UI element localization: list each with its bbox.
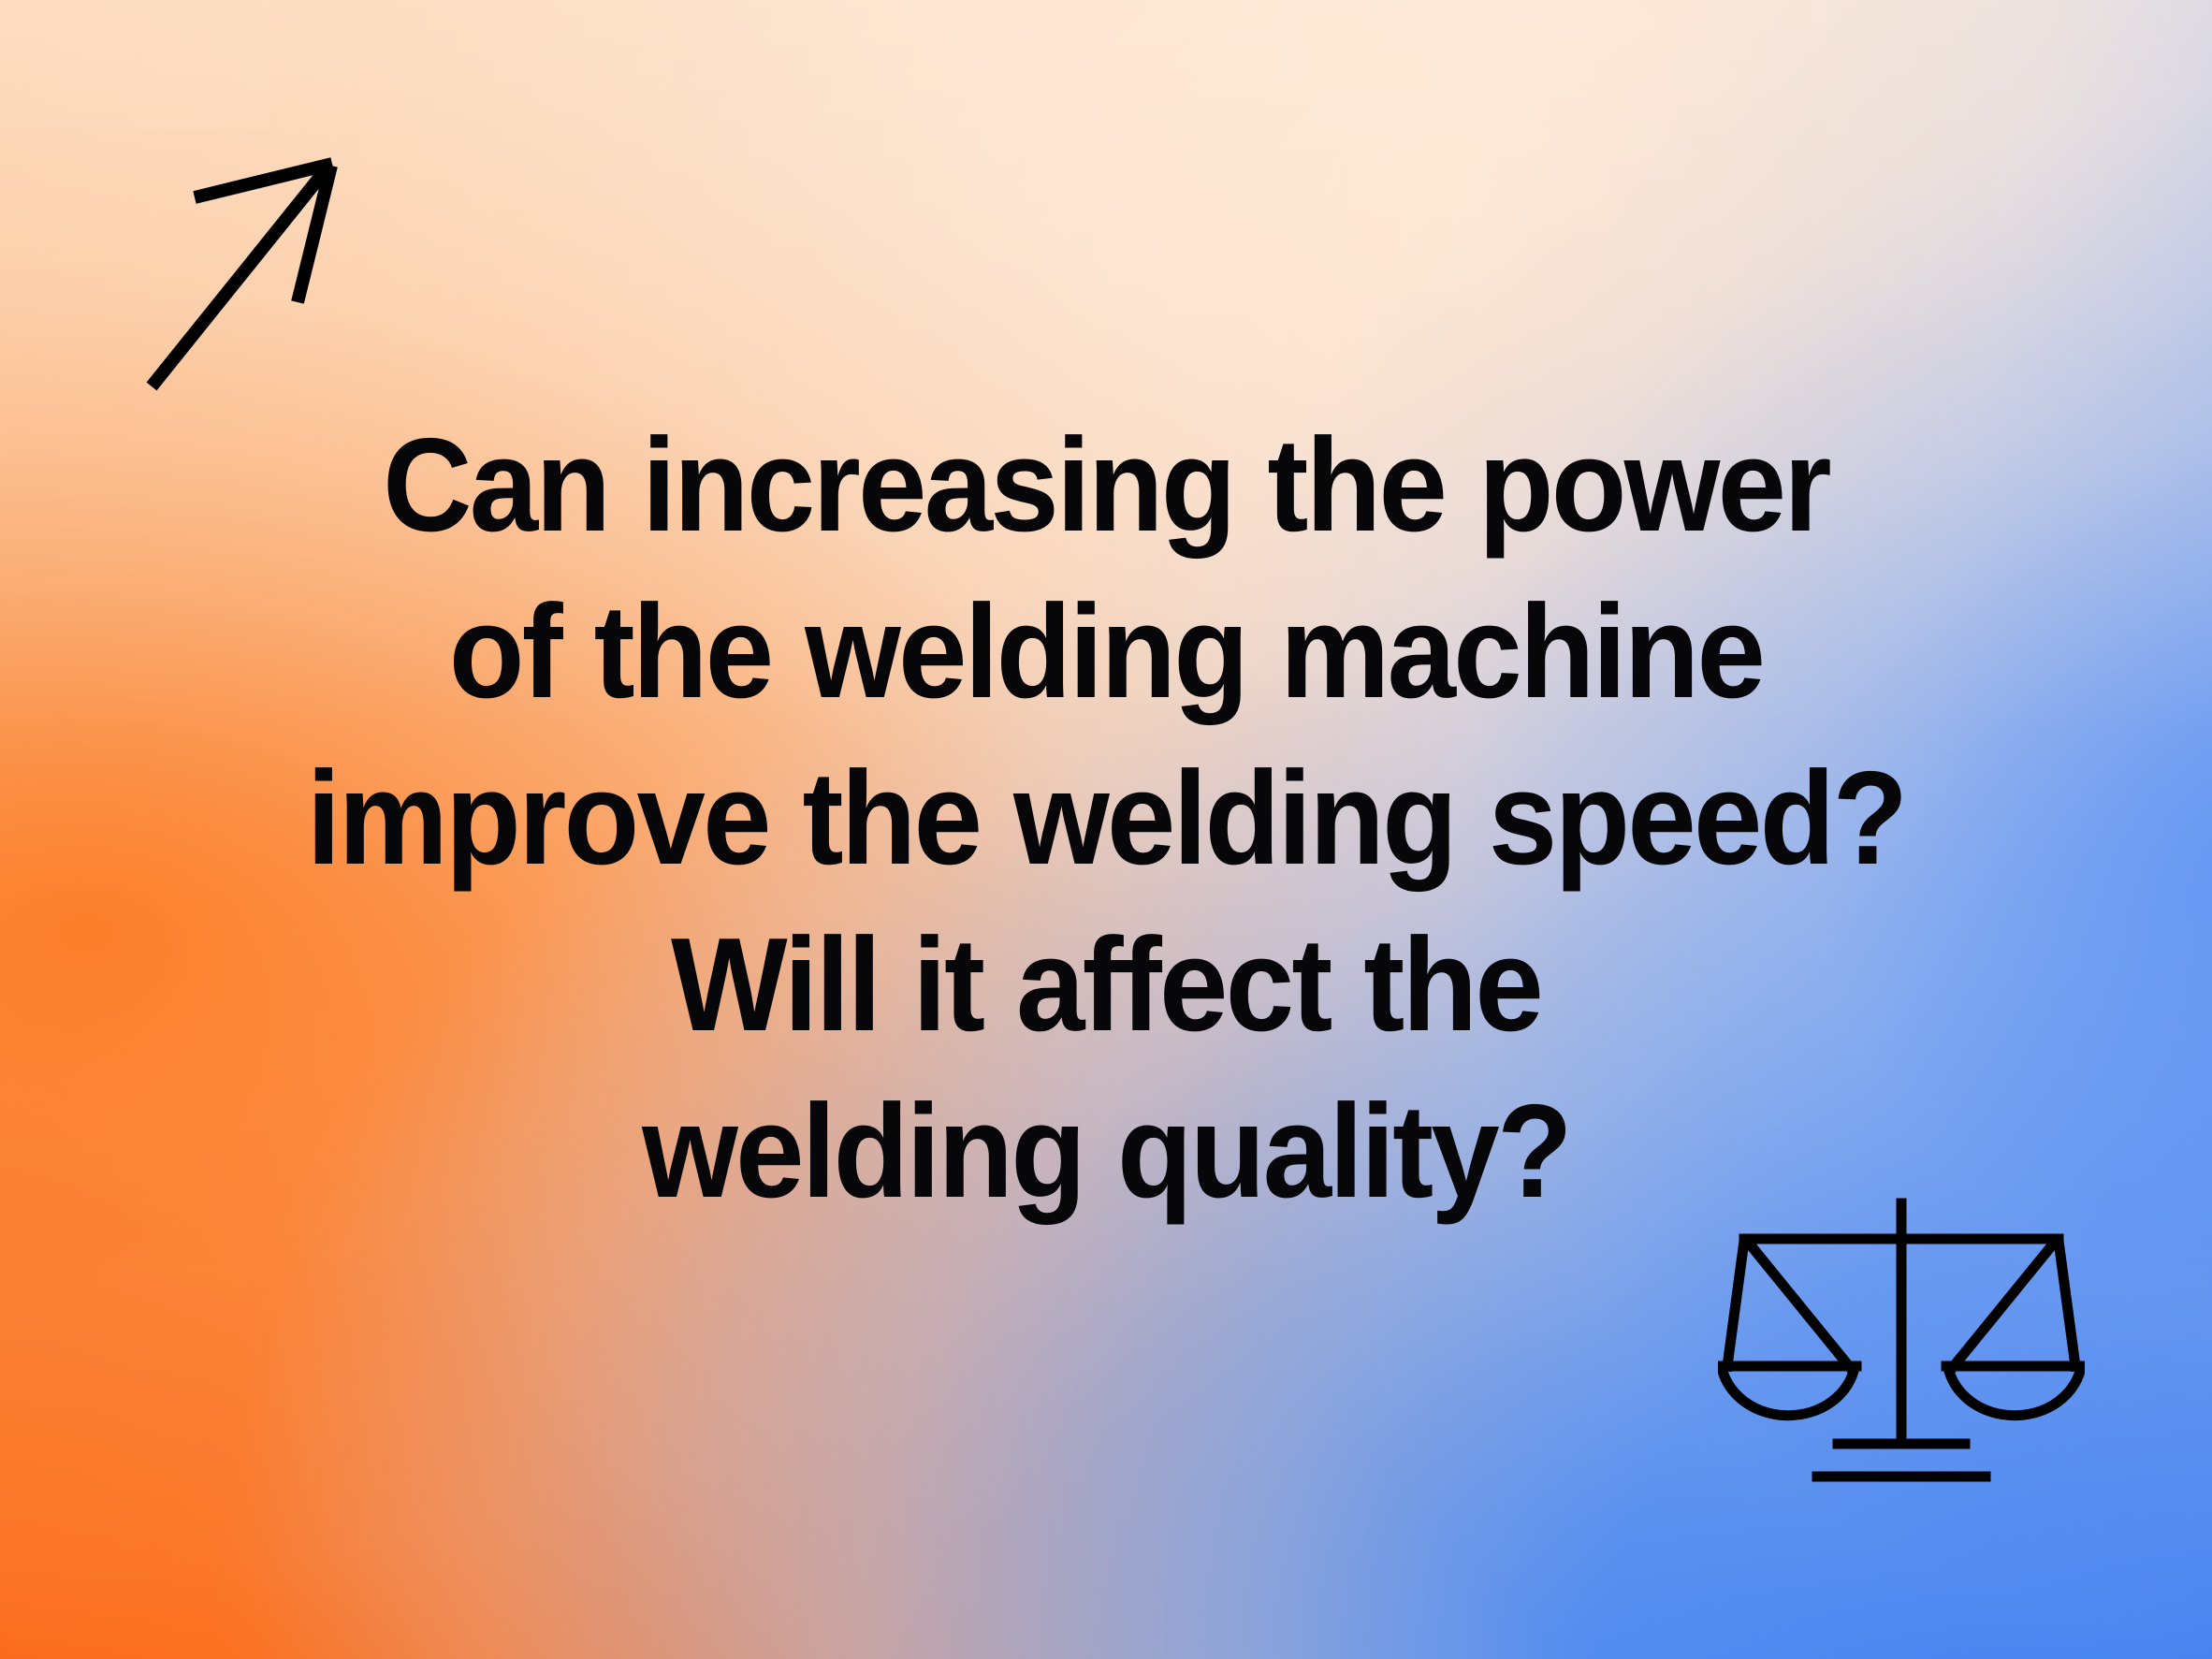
headline-line: Can increasing the power [78, 402, 2135, 569]
headline-line: Will it affect the [78, 902, 2135, 1069]
question-card: Can increasing the power of the welding … [0, 0, 2212, 1659]
page-title: Can increasing the power of the welding … [78, 402, 2135, 1235]
headline-line: improve the welding speed? [78, 735, 2135, 902]
balance-scales-icon [1718, 1196, 2085, 1493]
arrow-up-right-icon [140, 145, 393, 398]
background-grain-texture [0, 0, 271, 131]
headline-line: of the welding machine [78, 569, 2135, 735]
